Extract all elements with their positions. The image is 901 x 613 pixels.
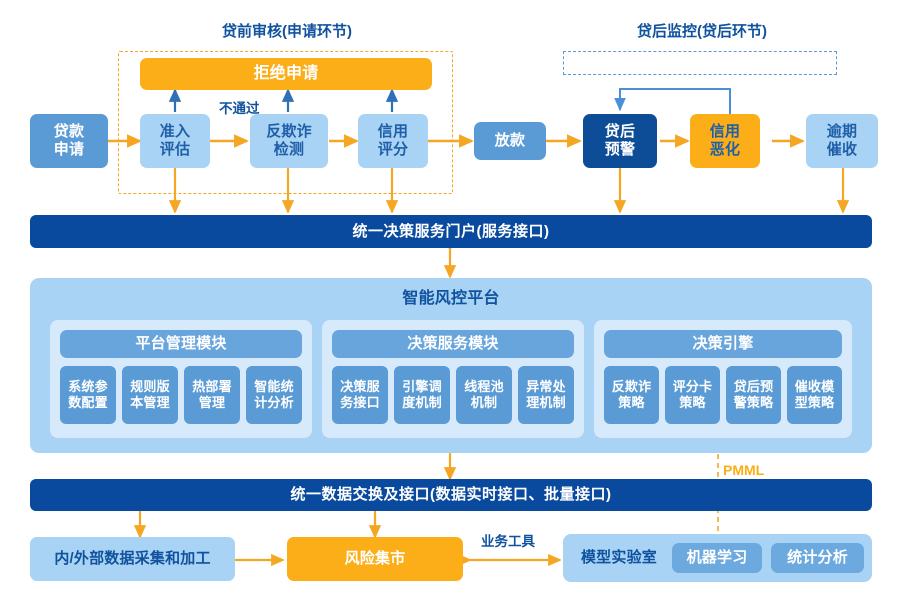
module-item-rule-version-management[interactable]: 规则版 本管理: [122, 366, 178, 424]
flow-node-antifraud-detection[interactable]: 反欺诈 检测: [250, 114, 328, 168]
flow-node-credit-scoring[interactable]: 信用 评分: [358, 114, 428, 168]
model-lab-chip-statistical-analysis[interactable]: 统计分析: [771, 543, 864, 573]
intelligent-risk-platform-panel: 智能风控平台 平台管理模块 系统参 数配置 规则版 本管理 热部署 管理 智能统…: [30, 278, 872, 453]
edge-label-business-tool: 业务工具: [481, 530, 535, 550]
module-item-hot-deployment-management[interactable]: 热部署 管理: [184, 366, 240, 424]
post-loan-dashed-region: [563, 51, 837, 75]
module-header-decision-engine[interactable]: 决策引擎: [604, 330, 842, 358]
flow-node-overdue-collection[interactable]: 逾期 催收: [806, 114, 878, 168]
pmml-label-line1: PMML: [723, 462, 779, 480]
bottom-node-data-collection[interactable]: 内/外部数据采集和加工: [30, 537, 235, 581]
model-lab-panel: 模型实验室 机器学习 统计分析: [563, 534, 872, 582]
module-header-decision-service[interactable]: 决策服务模块: [332, 330, 574, 358]
module-header-platform-management[interactable]: 平台管理模块: [60, 330, 302, 358]
flow-node-loan-application[interactable]: 贷款 申请: [30, 114, 108, 168]
platform-title: 智能风控平台: [30, 290, 872, 309]
flow-node-credit-deterioration[interactable]: 信用 恶化: [690, 114, 760, 168]
module-item-system-parameter-config[interactable]: 系统参 数配置: [60, 366, 116, 424]
module-item-intelligent-statistics-analysis[interactable]: 智能统 计分析: [246, 366, 302, 424]
module-panel-platform-management: 平台管理模块 系统参 数配置 规则版 本管理 热部署 管理 智能统 计分析: [50, 320, 312, 438]
module-item-thread-pool-mechanism[interactable]: 线程池 机制: [456, 366, 512, 424]
module-panel-decision-engine: 决策引擎 反欺诈 策略 评分卡 策略 贷后预 警策略 催收模 型策略: [594, 320, 852, 438]
flow-node-admission-assessment[interactable]: 准入 评估: [140, 114, 210, 168]
module-item-collection-model-strategy[interactable]: 催收模 型策略: [787, 366, 842, 424]
flow-node-reject-application[interactable]: 拒绝申请: [140, 58, 432, 90]
model-lab-chip-machine-learning[interactable]: 机器学习: [672, 543, 762, 573]
bottom-node-risk-mart[interactable]: 风险集市: [287, 537, 463, 581]
flow-node-post-loan-alert[interactable]: 贷后 预警: [583, 114, 657, 168]
post-loan-section-title: 贷后监控(贷后环节): [637, 20, 767, 41]
module-item-scorecard-strategy[interactable]: 评分卡 策略: [665, 366, 720, 424]
diagram-canvas: 贷前审核(申请环节) 贷后监控(贷后环节) 拒绝申请 不通过 贷款 申请 准入 …: [0, 0, 901, 613]
module-item-decision-service-interface[interactable]: 决策服 务接口: [332, 366, 388, 424]
module-panel-decision-service: 决策服务模块 决策服 务接口 引擎调 度机制 线程池 机制 异常处 理机制: [322, 320, 584, 438]
model-lab-title: 模型实验室: [569, 534, 669, 582]
module-item-engine-scheduling-mechanism[interactable]: 引擎调 度机制: [394, 366, 450, 424]
module-item-antifraud-strategy[interactable]: 反欺诈 策略: [604, 366, 659, 424]
module-item-post-loan-alert-strategy[interactable]: 贷后预 警策略: [726, 366, 781, 424]
pre-loan-section-title: 贷前审核(申请环节): [222, 20, 352, 41]
unified-decision-portal-bar[interactable]: 统一决策服务门户(服务接口): [30, 215, 872, 248]
module-item-exception-handling-mechanism[interactable]: 异常处 理机制: [518, 366, 574, 424]
flow-node-disbursement[interactable]: 放款: [474, 122, 546, 160]
unified-data-exchange-bar[interactable]: 统一数据交换及接口(数据实时接口、批量接口): [30, 479, 872, 511]
